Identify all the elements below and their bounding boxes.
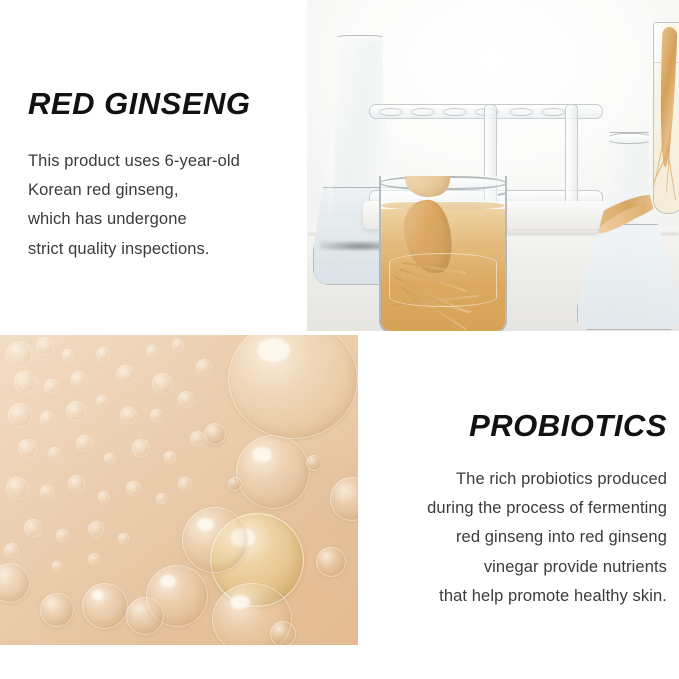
froth-bubble bbox=[132, 439, 150, 457]
beaker-spout bbox=[495, 176, 507, 196]
froth-bubble bbox=[150, 409, 163, 422]
oil-bubble-medium bbox=[330, 477, 358, 521]
froth-bubble bbox=[96, 395, 108, 407]
froth-bubble bbox=[126, 481, 141, 496]
froth-bubble bbox=[66, 401, 86, 421]
froth-bubble bbox=[52, 561, 62, 571]
froth-bubble bbox=[116, 365, 135, 384]
rack-hole bbox=[509, 108, 533, 116]
froth-bubble bbox=[104, 453, 115, 464]
rack-hole bbox=[443, 108, 467, 116]
beaker-with-ginseng-liquid bbox=[379, 176, 507, 331]
photo-laboratory-glassware bbox=[307, 0, 679, 331]
rack-hole bbox=[541, 108, 565, 116]
probiotics-body: The rich probiotics produced during the … bbox=[427, 465, 667, 612]
froth-bubble bbox=[14, 371, 36, 393]
oil-bubble-large bbox=[236, 435, 310, 509]
oil-bubble-small bbox=[204, 423, 226, 445]
beaker-inner-reflection bbox=[389, 253, 497, 307]
bubble-specular-highlight bbox=[257, 338, 291, 362]
froth-bubble bbox=[118, 533, 129, 544]
oil-bubble-medium bbox=[40, 593, 74, 627]
froth-bubble bbox=[44, 379, 58, 393]
froth-bubble bbox=[8, 403, 32, 427]
oil-bubble-medium bbox=[126, 597, 164, 635]
froth-bubble bbox=[68, 475, 85, 492]
froth-bubble bbox=[178, 391, 194, 407]
bubble-specular-highlight bbox=[252, 447, 271, 462]
froth-bubble bbox=[96, 347, 110, 361]
body-line: which has undergone bbox=[28, 205, 251, 234]
oil-bubble-large bbox=[228, 335, 358, 439]
probiotics-heading: PROBIOTICS bbox=[427, 410, 667, 443]
body-line: during the process of fermenting bbox=[427, 494, 667, 523]
oil-bubble-large bbox=[182, 507, 248, 573]
froth-bubble bbox=[4, 543, 19, 558]
test-tube-left bbox=[653, 22, 679, 214]
froth-bubble bbox=[88, 521, 104, 537]
froth-bubble bbox=[18, 439, 37, 458]
froth-bubble bbox=[98, 491, 110, 503]
froth-bubble bbox=[196, 359, 212, 375]
product-infographic: RED GINSENG This product uses 6-year-old… bbox=[0, 0, 679, 679]
red-ginseng-body: This product uses 6-year-old Korean red … bbox=[28, 147, 251, 264]
rack-hole bbox=[379, 108, 403, 116]
froth-bubble bbox=[88, 553, 100, 565]
froth-bubble bbox=[156, 493, 167, 504]
froth-bubble bbox=[62, 349, 74, 361]
oil-bubble-medium bbox=[0, 563, 30, 603]
flask-right-rim bbox=[606, 133, 655, 144]
photo-golden-oil-bubbles bbox=[0, 335, 358, 645]
froth-bubble bbox=[190, 431, 205, 446]
froth-bubble bbox=[6, 341, 32, 367]
froth-bubble bbox=[172, 339, 184, 351]
bubble-specular-highlight bbox=[92, 590, 104, 599]
bubble-specular-highlight bbox=[197, 518, 214, 531]
section-red-ginseng: RED GINSENG This product uses 6-year-old… bbox=[28, 88, 251, 264]
oil-bubble-small bbox=[270, 621, 296, 645]
froth-bubble bbox=[6, 477, 28, 499]
oil-bubble-medium bbox=[82, 583, 128, 629]
section-probiotics: PROBIOTICS The rich probiotics produced … bbox=[427, 410, 667, 611]
froth-bubble bbox=[70, 371, 87, 388]
froth-bubble bbox=[178, 477, 192, 491]
froth-bubble bbox=[76, 435, 92, 451]
oil-bubble-small bbox=[316, 547, 346, 577]
bubble-specular-highlight bbox=[230, 595, 251, 609]
rack-hole bbox=[411, 108, 435, 116]
bubble-specular-highlight bbox=[160, 575, 176, 587]
froth-bubble bbox=[120, 407, 137, 424]
body-line: This product uses 6-year-old bbox=[28, 147, 251, 176]
oil-bubble-small bbox=[306, 455, 322, 471]
body-line: that help promote healthy skin. bbox=[427, 582, 667, 611]
froth-bubble bbox=[40, 411, 55, 426]
froth-bubble bbox=[24, 519, 42, 537]
body-line: The rich probiotics produced bbox=[427, 465, 667, 494]
body-line: red ginseng into red ginseng bbox=[427, 523, 667, 552]
body-line: strict quality inspections. bbox=[28, 235, 251, 264]
froth-bubble bbox=[36, 337, 54, 355]
froth-bubble bbox=[152, 373, 173, 394]
body-line: vinegar provide nutrients bbox=[427, 553, 667, 582]
beaker-liquid-surface bbox=[381, 202, 505, 209]
red-ginseng-heading: RED GINSENG bbox=[28, 88, 251, 121]
froth-bubble bbox=[40, 485, 54, 499]
body-line: Korean red ginseng, bbox=[28, 176, 251, 205]
froth-bubble bbox=[164, 451, 176, 463]
froth-bubble bbox=[146, 345, 159, 358]
rack-leg bbox=[565, 104, 578, 207]
oil-bubble-small bbox=[228, 477, 242, 491]
froth-bubble bbox=[56, 529, 69, 542]
flask-left-highlight bbox=[327, 61, 334, 215]
froth-bubble bbox=[48, 447, 61, 460]
